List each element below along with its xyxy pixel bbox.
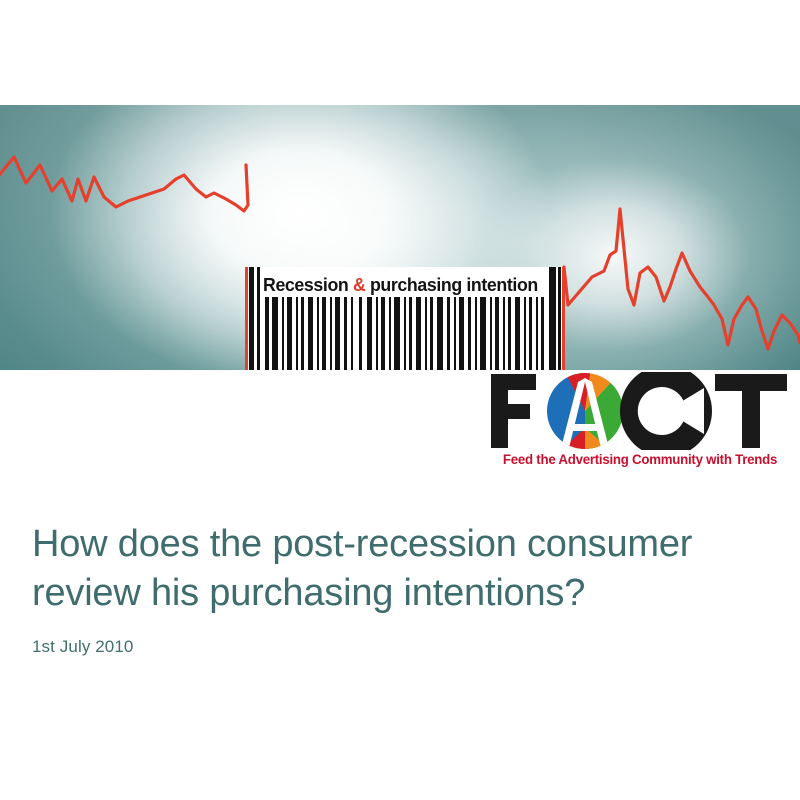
barcode-title-part-1: Recession — [263, 274, 353, 295]
trendline-left-segment — [0, 157, 248, 211]
fact-tagline: Feed the Advertising Community with Tren… — [492, 452, 787, 467]
slide-date: 1st July 2010 — [32, 637, 772, 657]
barcode-title-part-2: purchasing intention — [365, 274, 538, 295]
logo-letter-a-mark — [545, 372, 629, 450]
trendline-right-segment — [564, 209, 800, 349]
fact-logo: Feed the Advertising Community with Tren… — [489, 372, 789, 480]
page-title: How does the post-recession consumer rev… — [32, 520, 772, 618]
logo-letter-f — [491, 374, 536, 448]
barcode-guard-right — [562, 267, 565, 370]
fact-wordmark — [489, 372, 789, 450]
hero-banner: Recession & purchasing intention — [0, 105, 800, 370]
title-block: How does the post-recession consumer rev… — [32, 520, 772, 657]
logo-letter-c — [626, 373, 704, 449]
logo-letter-t — [715, 374, 787, 448]
barcode-bars — [249, 297, 561, 370]
barcode-graphic: Recession & purchasing intention — [245, 267, 565, 370]
barcode-guard-left — [245, 267, 248, 370]
barcode-title-ampersand: & — [353, 274, 365, 295]
barcode-title-text: Recession & purchasing intention — [263, 271, 541, 298]
